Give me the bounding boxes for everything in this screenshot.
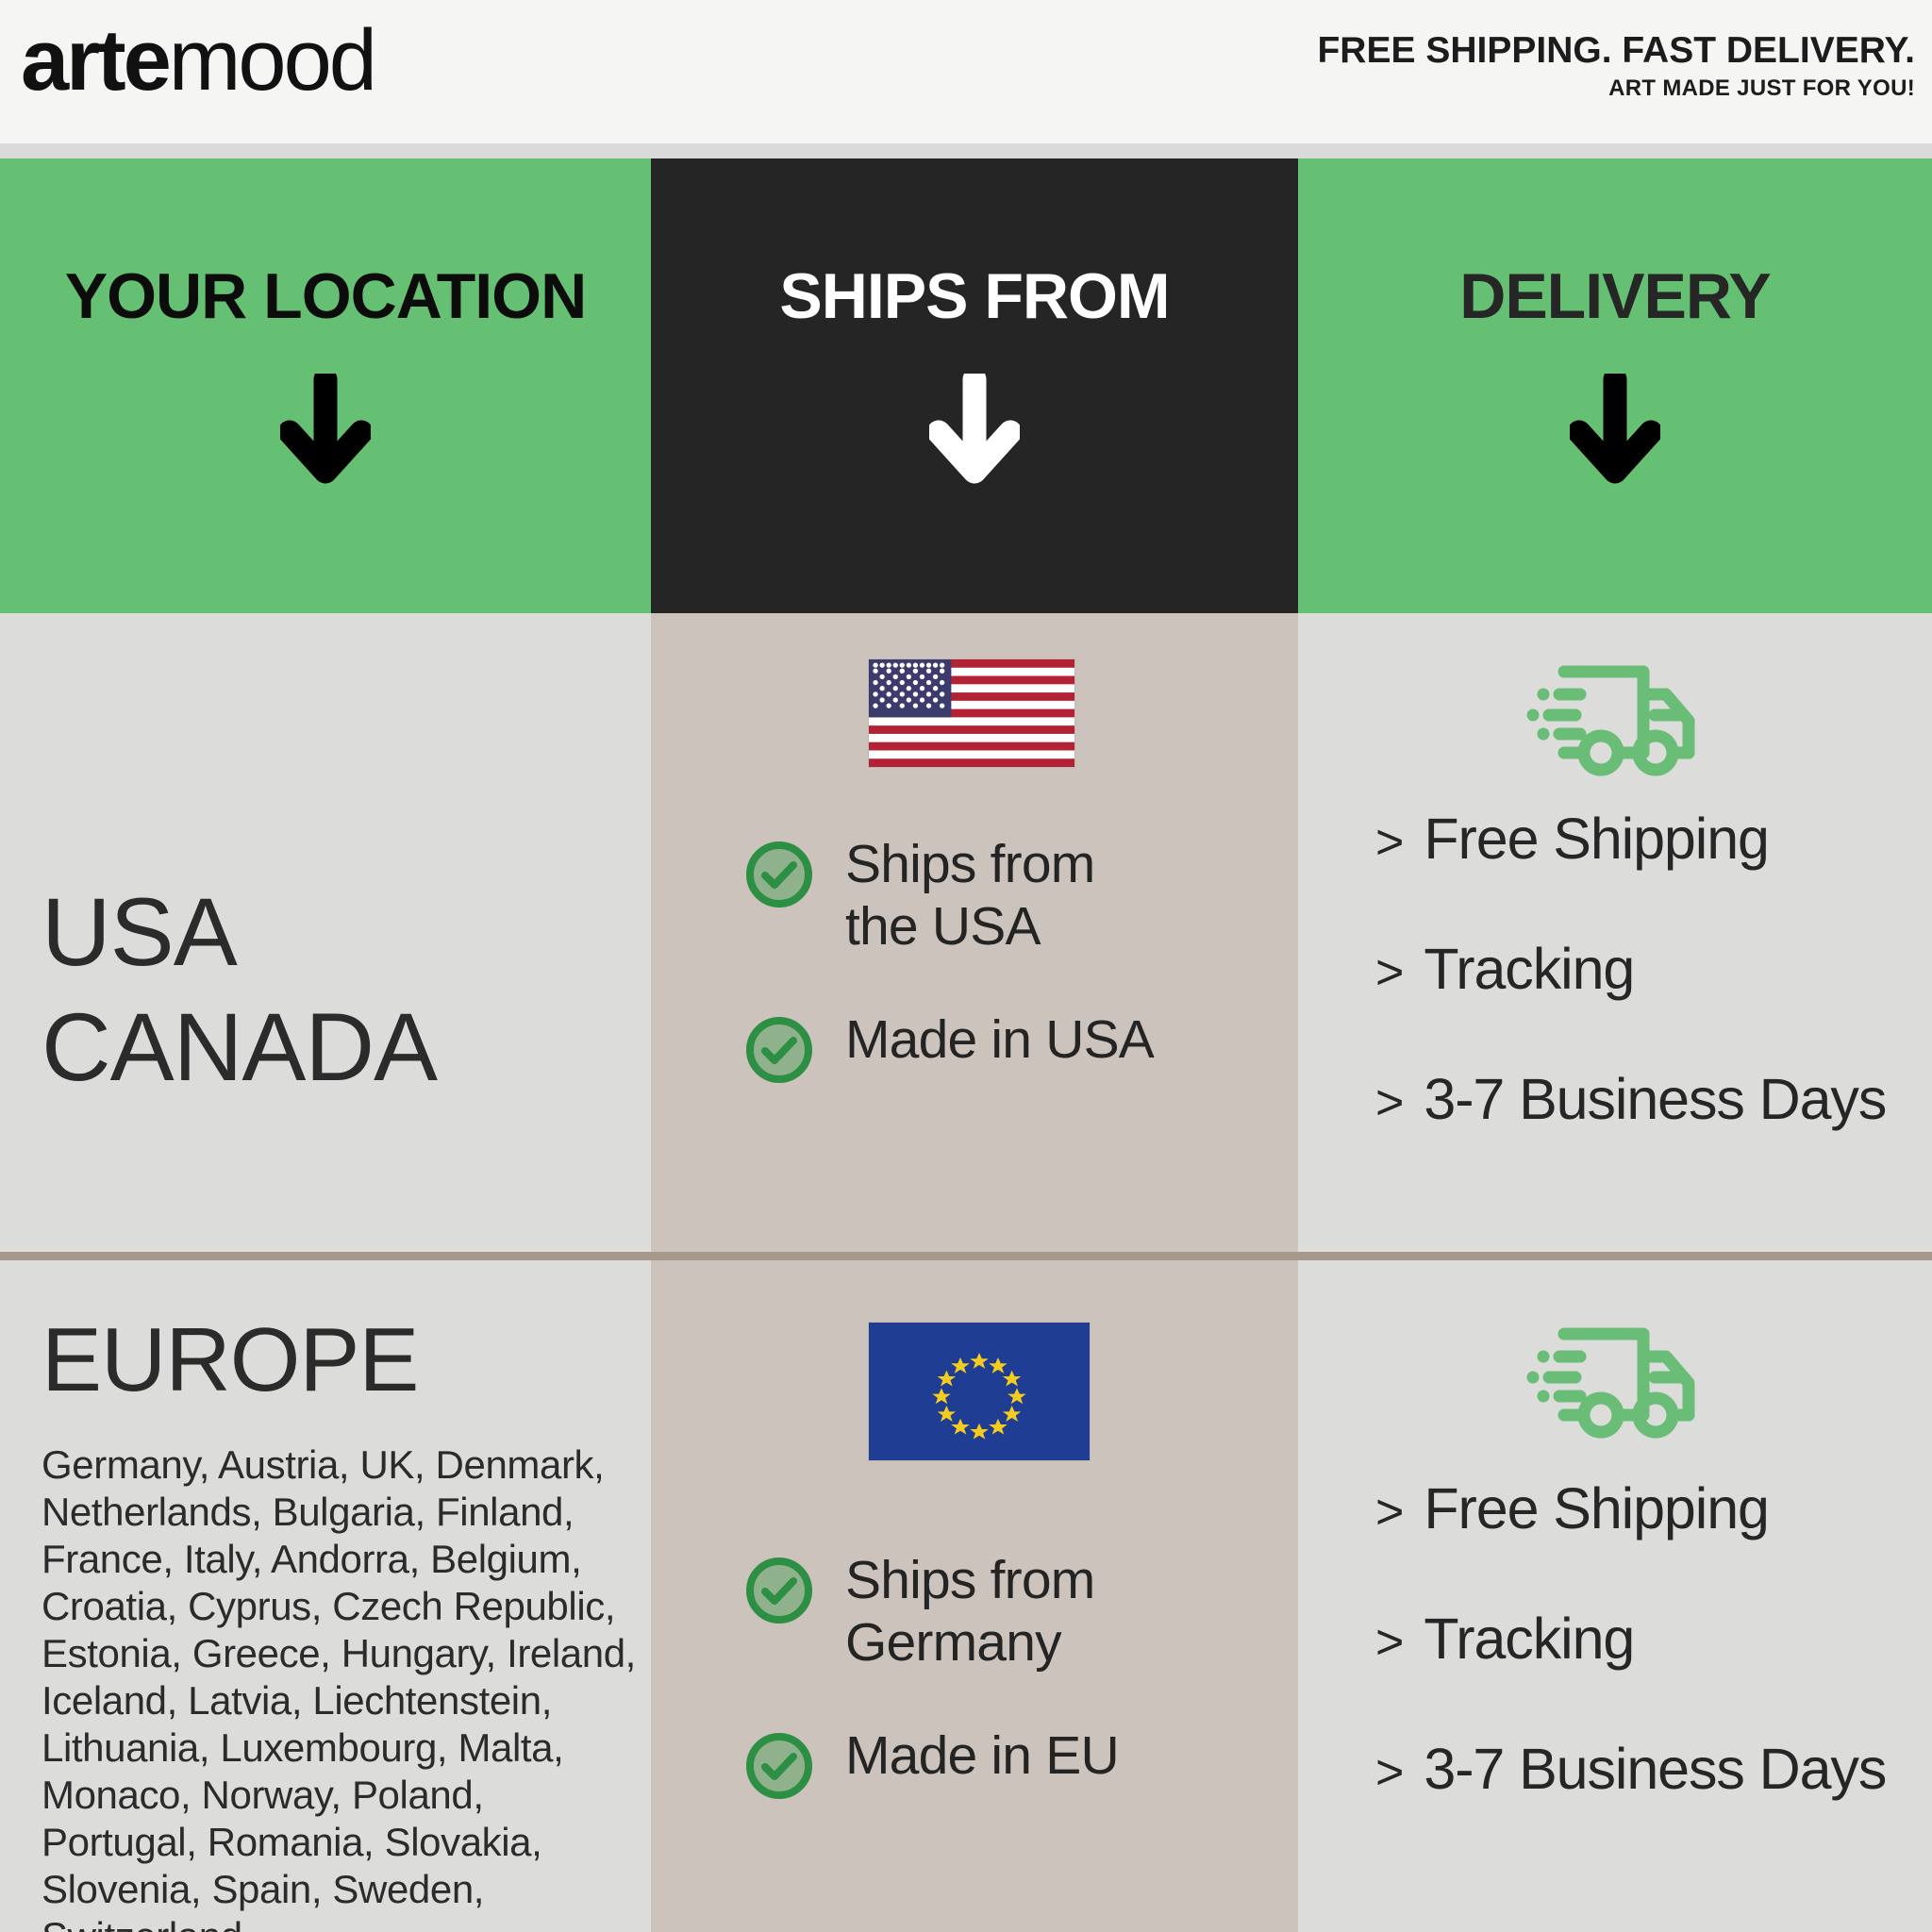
header-your-location-label: YOUR LOCATION [65, 260, 586, 332]
list-item: Made in EU [743, 1724, 1119, 1802]
list-item: > 3-7 Business Days [1375, 1738, 1886, 1804]
europe-country-list: Germany, Austria, UK, Denmark, Netherlan… [42, 1441, 636, 1932]
header-delivery: DELIVERY [1298, 158, 1932, 613]
check-label: Made in EU [845, 1724, 1119, 1787]
chevron-right-icon: > [1375, 1481, 1404, 1543]
list-item: > 3-7 Business Days [1375, 1068, 1886, 1134]
list-item: > Tracking [1375, 938, 1886, 1004]
list-item: Ships from the USA [743, 833, 1154, 958]
delivery-feature-label: Free Shipping [1424, 808, 1769, 870]
delivery-truck-icon [1523, 649, 1707, 786]
column-ships-from: Ships from the USA Made in USA [651, 613, 1298, 1932]
chevron-right-icon: > [1375, 1072, 1404, 1134]
chevron-right-icon: > [1375, 941, 1404, 1004]
logo-text-bold: arte [21, 12, 169, 108]
eu-flag-icon [868, 1322, 1091, 1461]
header-delivery-label: DELIVERY [1459, 260, 1771, 332]
delivery-feature-label: 3-7 Business Days [1424, 1068, 1886, 1130]
down-arrow-icon [929, 374, 1020, 487]
list-item: > Tracking [1375, 1607, 1886, 1674]
tagline-block: FREE SHIPPING. FAST DELIVERY. ART MADE J… [1317, 28, 1915, 105]
column-delivery: > Free Shipping > Tracking > 3-7 Busines… [1298, 613, 1932, 1932]
check-label: Made in USA [845, 1008, 1154, 1071]
column-your-location: USA CANADA EUROPE Germany, Austria, UK, … [0, 613, 651, 1932]
ships-from-checks-usa: Ships from the USA Made in USA [743, 833, 1154, 1137]
logo-text-light: mood [169, 12, 375, 108]
check-label: Ships from the USA [845, 833, 1094, 958]
chevron-right-icon: > [1375, 1611, 1404, 1674]
header-divider [0, 143, 1932, 158]
ships-from-checks-europe: Ships from Germany Made in EU [743, 1549, 1119, 1853]
brand-header: artemood FREE SHIPPING. FAST DELIVERY. A… [0, 0, 1932, 143]
down-arrow-icon [1570, 374, 1660, 487]
row-divider [0, 1252, 1932, 1260]
delivery-features-usa: > Free Shipping > Tracking > 3-7 Busines… [1375, 808, 1886, 1198]
list-item: > Free Shipping [1375, 1477, 1886, 1543]
header-your-location: YOUR LOCATION [0, 158, 651, 613]
list-item: Made in USA [743, 1008, 1154, 1086]
tagline-primary: FREE SHIPPING. FAST DELIVERY. [1317, 28, 1915, 73]
header-ships-from-label: SHIPS FROM [779, 260, 1169, 332]
chevron-right-icon: > [1375, 811, 1404, 874]
us-flag-icon [868, 658, 1075, 768]
column-headers: YOUR LOCATION SHIPS FROM DELIVERY [0, 158, 1932, 613]
artemood-logo: artemood [21, 13, 375, 108]
delivery-feature-label: Tracking [1424, 1607, 1634, 1670]
check-label: Ships from Germany [845, 1549, 1094, 1674]
check-circle-icon [743, 1730, 815, 1802]
delivery-truck-icon [1523, 1311, 1707, 1448]
check-circle-icon [743, 839, 815, 910]
region-title-europe: EUROPE [42, 1311, 418, 1409]
delivery-feature-label: 3-7 Business Days [1424, 1738, 1886, 1800]
check-circle-icon [743, 1555, 815, 1626]
header-ships-from: SHIPS FROM [651, 158, 1298, 613]
delivery-feature-label: Tracking [1424, 938, 1634, 1000]
region-title-usa-canada: USA CANADA [42, 874, 437, 1105]
list-item: > Free Shipping [1375, 808, 1886, 874]
down-arrow-icon [280, 374, 371, 487]
chevron-right-icon: > [1375, 1741, 1404, 1804]
delivery-feature-label: Free Shipping [1424, 1477, 1769, 1540]
shipping-matrix: USA CANADA EUROPE Germany, Austria, UK, … [0, 613, 1932, 1932]
tagline-secondary: ART MADE JUST FOR YOU! [1317, 73, 1915, 105]
list-item: Ships from Germany [743, 1549, 1119, 1674]
check-circle-icon [743, 1014, 815, 1086]
delivery-features-europe: > Free Shipping > Tracking > 3-7 Busines… [1375, 1477, 1886, 1868]
shipping-info-graphic: artemood FREE SHIPPING. FAST DELIVERY. A… [0, 0, 1932, 1932]
